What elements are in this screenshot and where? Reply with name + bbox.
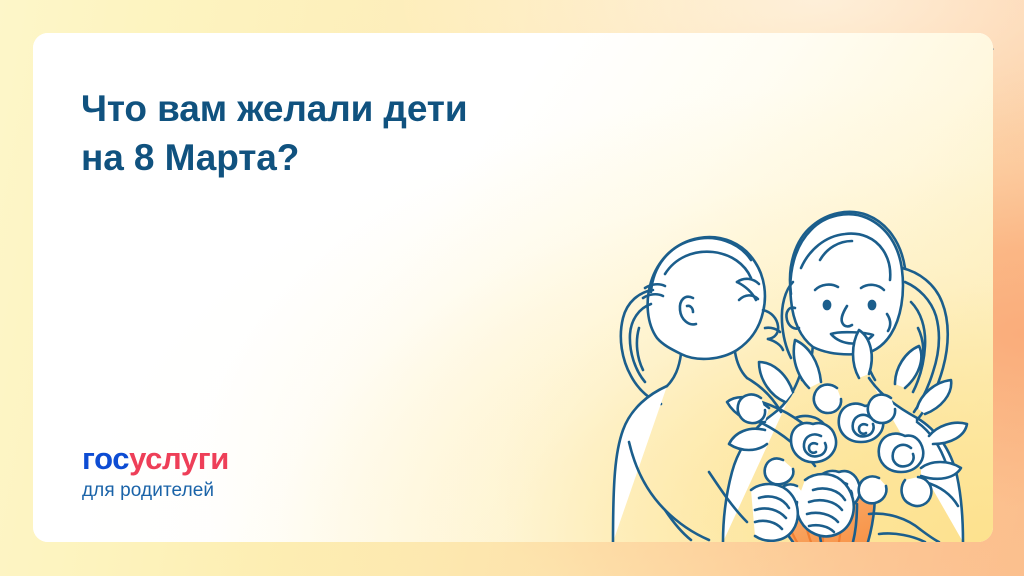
illustration-mother-and-child — [569, 142, 993, 542]
logo-subtitle: для родителей — [82, 481, 229, 500]
logo-word-blue: гос — [82, 441, 129, 476]
content-card: Что вам желали дети на 8 Марта? госуслуг… — [33, 33, 993, 542]
banner-root: Что вам желали дети на 8 Марта? госуслуг… — [0, 0, 1024, 576]
page-title: Что вам желали дети на 8 Марта? — [81, 85, 601, 183]
logo-wordmark: госуслуги — [82, 443, 229, 474]
gosuslugi-logo: госуслуги для родителей — [82, 443, 229, 500]
logo-word-red: услуги — [129, 441, 229, 476]
